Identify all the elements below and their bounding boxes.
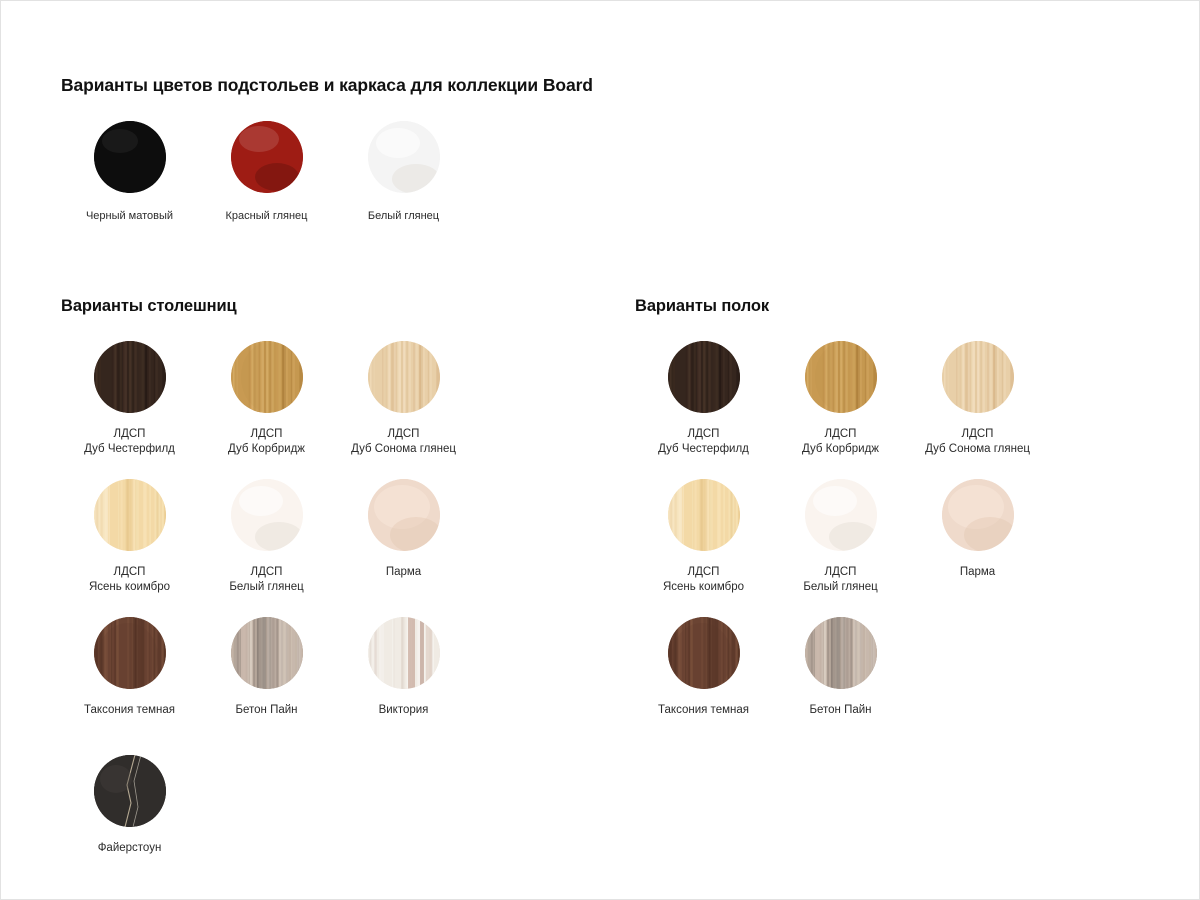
tabletop-swatch-item[interactable]: Файерстоун: [61, 755, 198, 893]
frame-swatch-caption: Белый глянец: [368, 209, 439, 224]
tabletop-swatch-caption: Бетон Пайн: [235, 703, 297, 718]
shelf-swatch-subname: Ясень коимбро: [663, 580, 744, 595]
tabletop-swatch-subname: Дуб Корбридж: [228, 442, 305, 457]
shelf-swatch-name: ЛДСП: [658, 427, 749, 442]
tabletop-swatch-caption: Парма: [386, 565, 421, 580]
shelf-swatch-item[interactable]: Бетон Пайн: [772, 617, 909, 755]
tabletop-swatch-item[interactable]: ЛДСПДуб Честерфилд: [61, 341, 198, 479]
tabletop-swatch-caption: ЛДСПЯсень коимбро: [89, 565, 170, 595]
shelf-swatch-grid: ЛДСПДуб ЧестерфилдЛДСПДуб КорбриджЛДСПДу…: [635, 341, 1046, 755]
tabletop-swatch-subname: Белый глянец: [229, 580, 303, 595]
tabletop-swatch-caption: Виктория: [379, 703, 429, 718]
tabletop-swatch-item[interactable]: ЛДСПЯсень коимбро: [61, 479, 198, 617]
shelf-swatch-name: ЛДСП: [925, 427, 1030, 442]
tabletop-swatch-caption: Файерстоун: [98, 841, 162, 856]
frame-swatch-name: Черный матовый: [86, 209, 173, 224]
frame-swatch-name: Красный глянец: [226, 209, 308, 224]
tabletop-swatch-caption: ЛДСПБелый глянец: [229, 565, 303, 595]
shelf-swatch-subname: Дуб Корбридж: [802, 442, 879, 457]
frame-swatch-item[interactable]: Черный матовый: [61, 121, 198, 224]
frame-swatch-disc-icon[interactable]: [94, 121, 166, 193]
tabletop-swatch-name: ЛДСП: [351, 427, 456, 442]
tabletop-swatch-name: ЛДСП: [229, 565, 303, 580]
tabletop-swatch-name: Бетон Пайн: [235, 703, 297, 718]
tabletop-swatch-caption: Таксония темная: [84, 703, 175, 718]
shelf-swatch-disc-icon[interactable]: [805, 617, 877, 689]
shelf-swatch-item[interactable]: Парма: [909, 479, 1046, 617]
shelf-swatch-caption: ЛДСПЯсень коимбро: [663, 565, 744, 595]
shelf-swatch-item[interactable]: ЛДСПДуб Честерфилд: [635, 341, 772, 479]
frame-swatch-caption: Черный матовый: [86, 209, 173, 224]
shelf-swatch-subname: Белый глянец: [803, 580, 877, 595]
tabletop-swatch-disc-icon[interactable]: [94, 341, 166, 413]
tabletop-swatch-caption: ЛДСПДуб Сонома глянец: [351, 427, 456, 457]
tabletop-swatch-subname: Дуб Сонома глянец: [351, 442, 456, 457]
frame-swatch-caption: Красный глянец: [226, 209, 308, 224]
tabletops-section-title: Варианты столешниц: [61, 297, 237, 316]
shelves-section-title: Варианты полок: [635, 297, 769, 316]
shelf-swatch-disc-icon[interactable]: [942, 479, 1014, 551]
shelf-swatch-item[interactable]: ЛДСПБелый глянец: [772, 479, 909, 617]
tabletop-swatch-item[interactable]: Виктория: [335, 617, 472, 755]
frame-swatch-item[interactable]: Белый глянец: [335, 121, 472, 224]
tabletop-swatch-name: ЛДСП: [84, 427, 175, 442]
tabletop-swatch-name: Таксония темная: [84, 703, 175, 718]
shelf-swatch-item[interactable]: Таксония темная: [635, 617, 772, 755]
tabletop-swatch-name: Виктория: [379, 703, 429, 718]
shelf-swatch-name: ЛДСП: [802, 427, 879, 442]
tabletop-swatch-item[interactable]: Парма: [335, 479, 472, 617]
page-title: Варианты цветов подстольев и каркаса для…: [61, 75, 593, 96]
shelf-swatch-name: Парма: [960, 565, 995, 580]
tabletop-swatch-disc-icon[interactable]: [94, 479, 166, 551]
shelf-swatch-item[interactable]: ЛДСПЯсень коимбро: [635, 479, 772, 617]
shelf-swatch-item[interactable]: ЛДСПДуб Корбридж: [772, 341, 909, 479]
shelf-swatch-caption: Таксония темная: [658, 703, 749, 718]
shelf-swatch-name: Бетон Пайн: [809, 703, 871, 718]
tabletop-swatch-disc-icon[interactable]: [231, 479, 303, 551]
shelf-swatch-subname: Дуб Честерфилд: [658, 442, 749, 457]
tabletop-swatch-subname: Дуб Честерфилд: [84, 442, 175, 457]
shelf-swatch-disc-icon[interactable]: [805, 479, 877, 551]
tabletop-swatch-item[interactable]: ЛДСПДуб Корбридж: [198, 341, 335, 479]
tabletop-swatch-item[interactable]: ЛДСПДуб Сонома глянец: [335, 341, 472, 479]
tabletop-swatch-disc-icon[interactable]: [231, 617, 303, 689]
shelf-swatch-name: Таксония темная: [658, 703, 749, 718]
frame-swatch-disc-icon[interactable]: [231, 121, 303, 193]
shelf-swatch-disc-icon[interactable]: [942, 341, 1014, 413]
shelf-swatch-subname: Дуб Сонома глянец: [925, 442, 1030, 457]
shelf-swatch-disc-icon[interactable]: [668, 479, 740, 551]
catalog-page: Варианты цветов подстольев и каркаса для…: [0, 0, 1200, 900]
shelf-swatch-caption: Парма: [960, 565, 995, 580]
tabletop-swatch-name: ЛДСП: [228, 427, 305, 442]
tabletop-swatch-name: Файерстоун: [98, 841, 162, 856]
tabletop-swatch-disc-icon[interactable]: [368, 617, 440, 689]
shelf-swatch-disc-icon[interactable]: [668, 341, 740, 413]
shelf-swatch-caption: ЛДСПДуб Честерфилд: [658, 427, 749, 457]
tabletop-swatch-caption: ЛДСПДуб Честерфилд: [84, 427, 175, 457]
tabletop-swatch-item[interactable]: ЛДСПБелый глянец: [198, 479, 335, 617]
frame-color-grid: Черный матовыйКрасный глянецБелый глянец: [61, 121, 472, 224]
tabletop-swatch-disc-icon[interactable]: [94, 617, 166, 689]
tabletop-swatch-disc-icon[interactable]: [368, 479, 440, 551]
frame-swatch-name: Белый глянец: [368, 209, 439, 224]
tabletop-swatch-subname: Ясень коимбро: [89, 580, 170, 595]
tabletop-swatch-disc-icon[interactable]: [94, 755, 166, 827]
frame-swatch-item[interactable]: Красный глянец: [198, 121, 335, 224]
frame-swatch-disc-icon[interactable]: [368, 121, 440, 193]
shelf-swatch-caption: ЛДСПБелый глянец: [803, 565, 877, 595]
tabletop-swatch-disc-icon[interactable]: [231, 341, 303, 413]
tabletop-swatch-grid: ЛДСПДуб ЧестерфилдЛДСПДуб КорбриджЛДСПДу…: [61, 341, 472, 893]
shelf-swatch-name: ЛДСП: [803, 565, 877, 580]
shelf-swatch-name: ЛДСП: [663, 565, 744, 580]
shelf-swatch-disc-icon[interactable]: [668, 617, 740, 689]
shelf-swatch-disc-icon[interactable]: [805, 341, 877, 413]
shelf-swatch-caption: ЛДСПДуб Корбридж: [802, 427, 879, 457]
shelf-swatch-item[interactable]: ЛДСПДуб Сонома глянец: [909, 341, 1046, 479]
tabletop-swatch-name: ЛДСП: [89, 565, 170, 580]
tabletop-swatch-item[interactable]: Таксония темная: [61, 617, 198, 755]
tabletop-swatch-item[interactable]: Бетон Пайн: [198, 617, 335, 755]
tabletop-swatch-caption: ЛДСПДуб Корбридж: [228, 427, 305, 457]
tabletop-swatch-disc-icon[interactable]: [368, 341, 440, 413]
shelf-swatch-caption: Бетон Пайн: [809, 703, 871, 718]
shelf-swatch-caption: ЛДСПДуб Сонома глянец: [925, 427, 1030, 457]
tabletop-swatch-name: Парма: [386, 565, 421, 580]
